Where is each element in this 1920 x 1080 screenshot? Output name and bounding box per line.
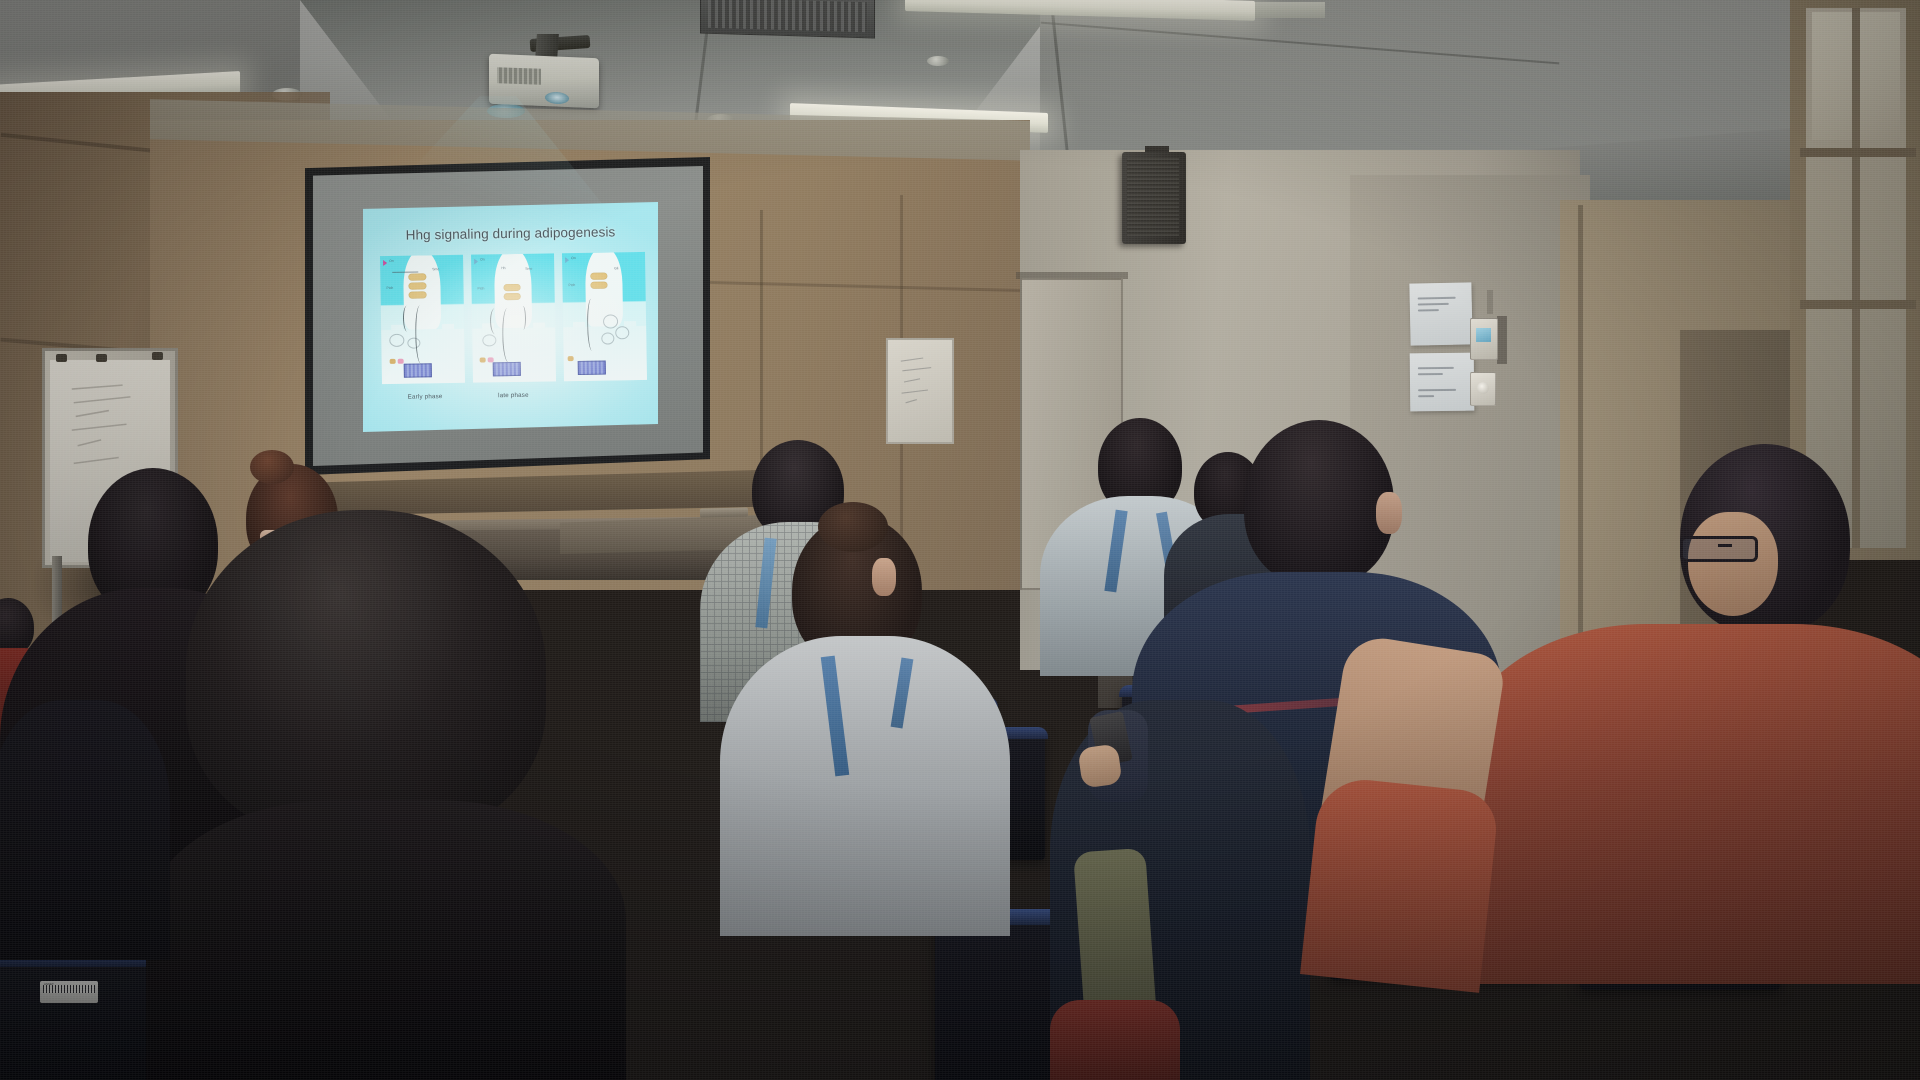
panel-state-label: On bbox=[571, 256, 576, 260]
molecule-label-ptch: Ptch bbox=[386, 286, 393, 290]
table-object[interactable] bbox=[700, 507, 748, 517]
protein-dot bbox=[568, 356, 574, 361]
protein-dot bbox=[390, 359, 396, 364]
window-mullion bbox=[1852, 8, 1860, 548]
wall-notice-1 bbox=[1409, 282, 1472, 345]
protein-blob bbox=[408, 282, 426, 289]
molecule-label-ptch: Ptch bbox=[568, 283, 575, 287]
wall-notice-2 bbox=[1410, 353, 1475, 412]
protein-blob bbox=[590, 282, 607, 289]
projector-vent bbox=[497, 67, 541, 85]
protein-blob bbox=[409, 291, 427, 298]
flipchart-clip bbox=[152, 352, 163, 360]
attendee-hair-bun bbox=[250, 450, 294, 484]
attendee-head bbox=[1244, 420, 1394, 586]
smoke-detector-icon bbox=[927, 56, 949, 66]
slide-captions: Early phase late phase bbox=[381, 390, 646, 410]
panel-state-label: On bbox=[389, 259, 394, 263]
signal-arrow bbox=[403, 306, 411, 332]
slide-title: Hhg signaling during adipogenesis bbox=[363, 224, 658, 244]
molecule-label-smo: Smo bbox=[432, 267, 439, 271]
attendee-shoulders bbox=[146, 800, 626, 1080]
attendee-bag bbox=[1050, 1000, 1180, 1080]
thermostat-display bbox=[1476, 328, 1491, 342]
diagram-panel-1: On Ptch Smo bbox=[380, 255, 465, 384]
protein-blob bbox=[408, 273, 426, 280]
nucleus-dna bbox=[578, 360, 606, 375]
wall-whiteboard bbox=[886, 338, 954, 444]
nucleus-dna bbox=[493, 362, 521, 377]
attendee-ear bbox=[1376, 492, 1402, 534]
air-vent bbox=[700, 0, 875, 38]
attendee-shoulders bbox=[1460, 624, 1920, 984]
panel-marker-icon bbox=[474, 259, 478, 265]
diagram-panel-2: On Hh Ptch Smo bbox=[471, 253, 556, 382]
caption-late-phase: late phase bbox=[469, 391, 558, 408]
attendee-ear bbox=[872, 558, 896, 596]
molecule-label-smo: Smo bbox=[525, 267, 532, 271]
protein-blob bbox=[503, 284, 520, 291]
attendee-face bbox=[1688, 512, 1778, 616]
seminar-room-photo: Hhg signaling during adipogenesis On Ptc… bbox=[0, 0, 1920, 1080]
socket-dial-icon[interactable] bbox=[1477, 382, 1489, 394]
notice-text-lines bbox=[1418, 367, 1466, 398]
panel-shadow bbox=[1497, 316, 1507, 364]
caption-early-phase: Early phase bbox=[381, 393, 470, 410]
whiteboard-marks bbox=[896, 350, 944, 422]
wall-notch bbox=[1487, 290, 1493, 314]
signal-arrow bbox=[490, 308, 500, 334]
attendee-sleeve bbox=[1300, 775, 1500, 993]
attendee-glasses bbox=[1680, 536, 1758, 562]
attendee-shoulders bbox=[0, 700, 170, 960]
notice-text-lines bbox=[1418, 297, 1464, 312]
panel-marker-icon bbox=[383, 260, 387, 266]
molecule-label-gli: Gli bbox=[614, 266, 618, 270]
molecule-label-ptch: Ptch bbox=[478, 286, 485, 290]
flipchart-clip bbox=[96, 354, 107, 362]
nucleus-dna bbox=[404, 363, 432, 378]
speaker-grille bbox=[1127, 158, 1179, 236]
protein-dot bbox=[398, 359, 404, 364]
panel-marker-icon bbox=[565, 257, 569, 263]
presentation-slide: Hhg signaling during adipogenesis On Ptc… bbox=[363, 202, 658, 432]
flipchart-clip bbox=[56, 354, 67, 362]
attendee-hair-bun bbox=[818, 502, 888, 552]
caption-third bbox=[558, 390, 647, 407]
attendee-shoulders bbox=[720, 636, 1010, 936]
panel-state-label: On bbox=[480, 257, 485, 261]
protein-dot bbox=[488, 357, 494, 362]
protein-blob bbox=[590, 273, 607, 280]
attendee-head bbox=[186, 510, 546, 840]
ceiling-light-dim bbox=[1255, 2, 1325, 18]
protein-blob bbox=[504, 293, 521, 300]
slide-diagram: On Ptch Smo bbox=[380, 252, 647, 384]
attendee-hand bbox=[1077, 743, 1122, 788]
protein-dot bbox=[480, 357, 486, 362]
diagram-panel-3: On Ptch Gli bbox=[562, 252, 647, 381]
molecule-label-hh: Hh bbox=[501, 266, 505, 270]
glasses-bridge bbox=[1718, 544, 1732, 547]
signal-arrow bbox=[520, 306, 526, 330]
chair-asset-tag: ASSET bbox=[40, 981, 98, 1003]
